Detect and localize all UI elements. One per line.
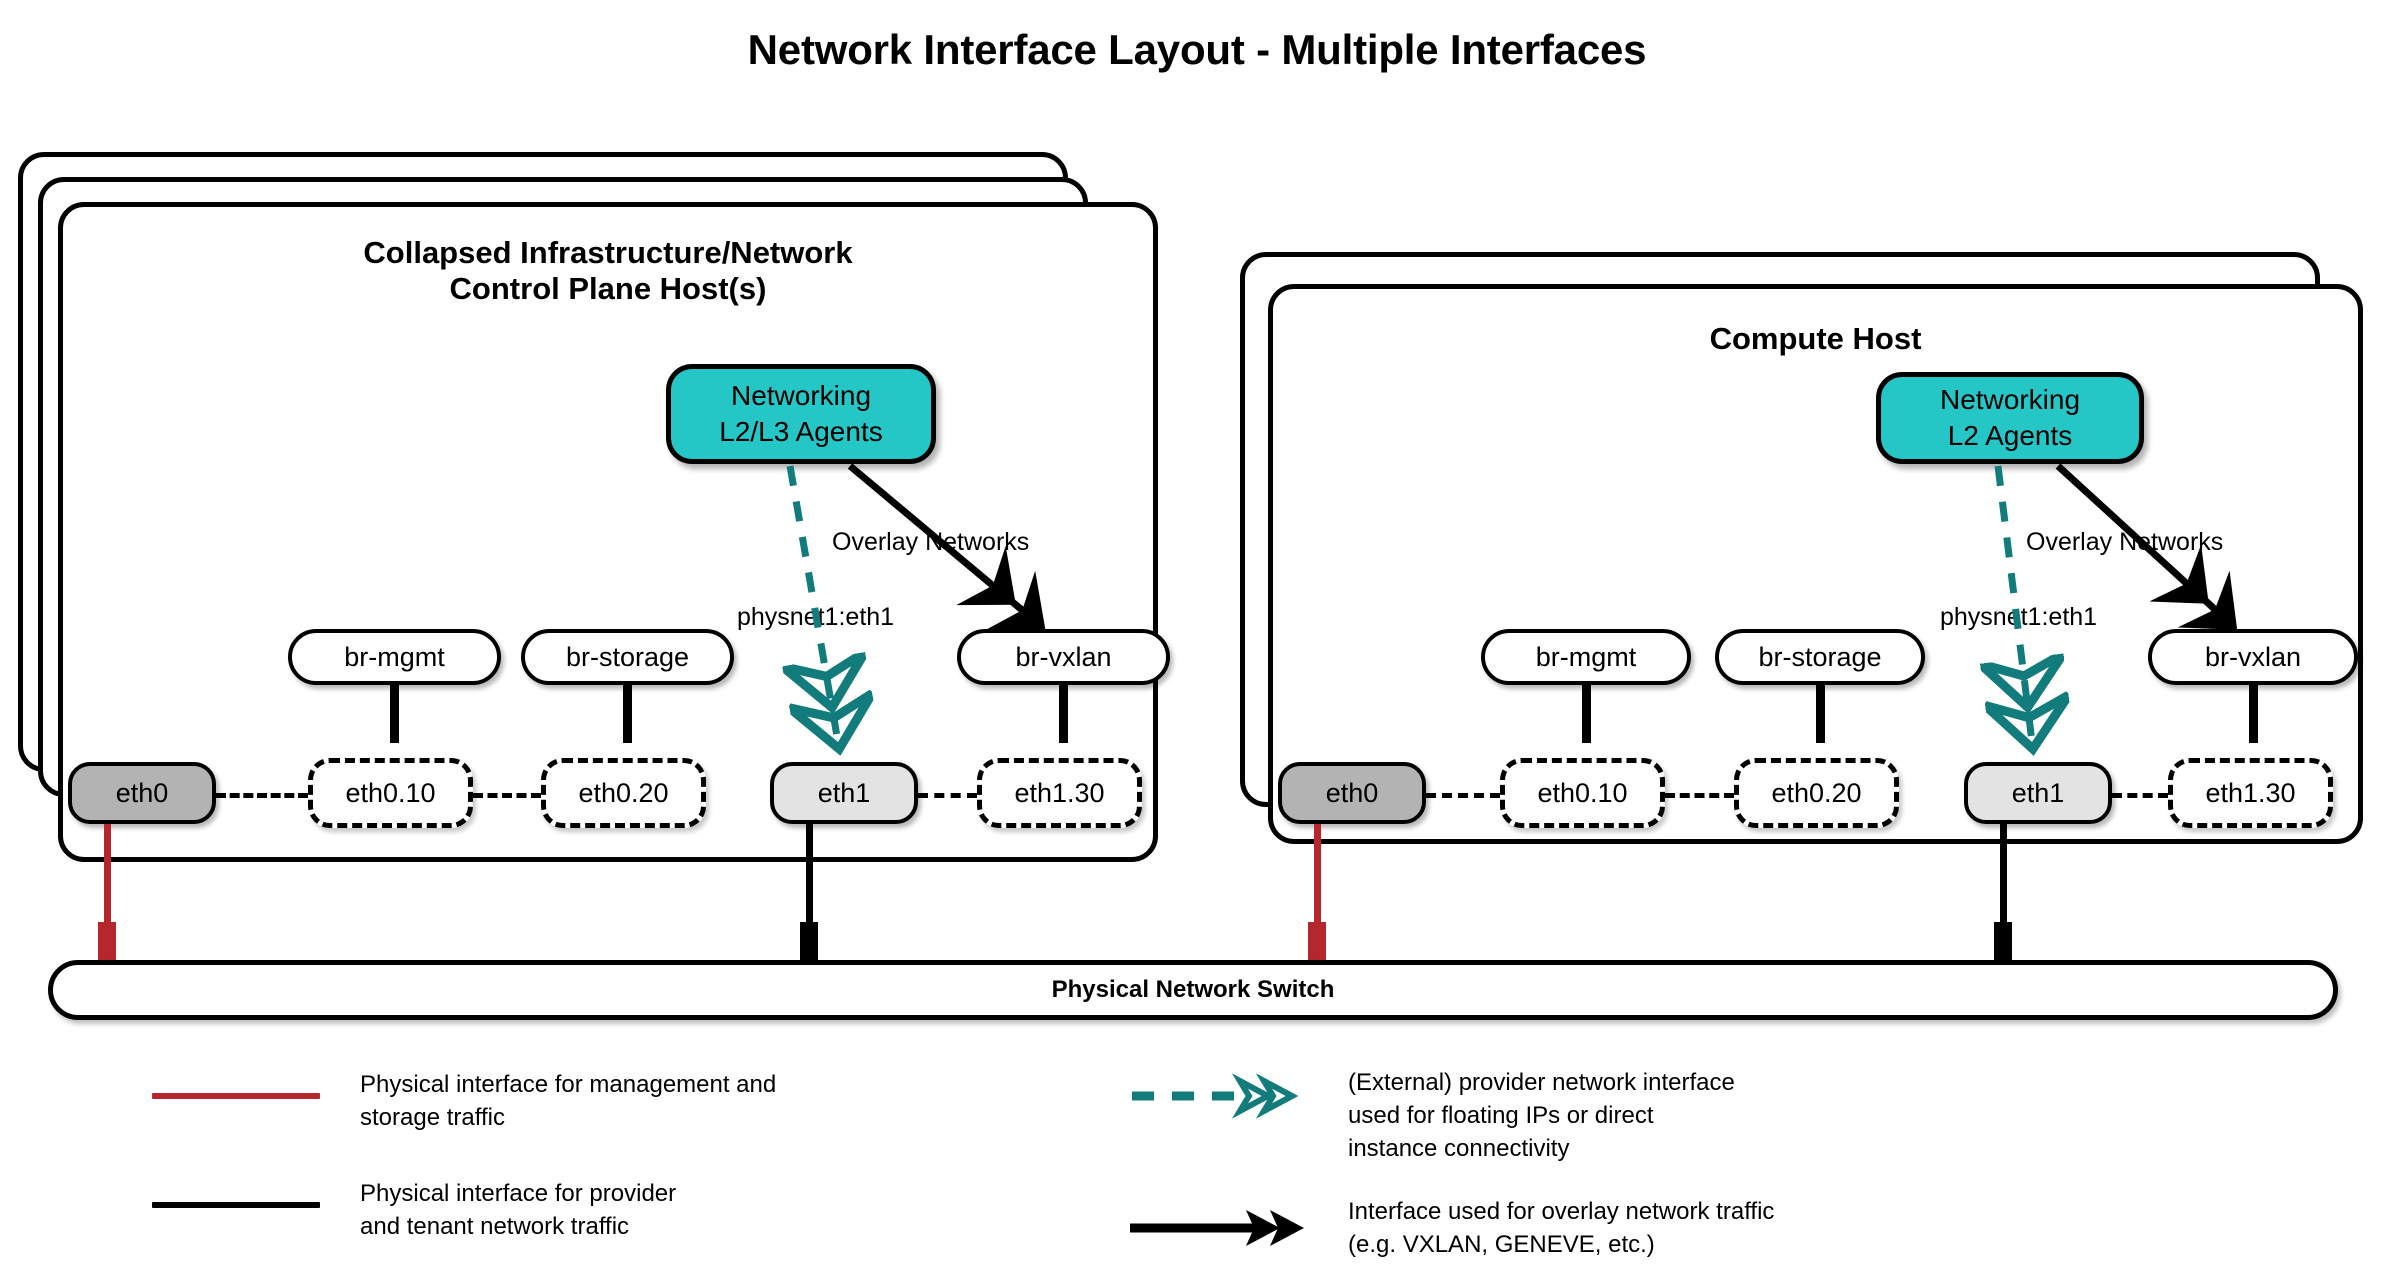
link-br-mgmt-to-eth0-10 [1582,685,1591,743]
compute-networking-agents[interactable]: Networking L2 Agents [1876,372,2144,464]
control-plane-interface-eth0-20[interactable]: eth0.20 [541,758,706,828]
link-br-storage-to-eth0-20 [1816,685,1825,743]
agent-label-line2: L2/L3 Agents [719,414,882,450]
legend-swatch-provider-tenant [152,1202,320,1208]
link-eth1-to-eth1-30 [918,793,977,798]
interface-label: eth1.30 [2205,778,2295,809]
bridge-label: br-vxlan [1015,642,1111,673]
control-plane-provider-edge-label: physnet1:eth1 [737,603,894,632]
link-br-storage-to-eth0-20 [623,685,632,743]
control-plane-host-title: Collapsed Infrastructure/Network Control… [63,235,1153,306]
switch-port-control-eth0 [98,922,116,962]
control-plane-bridge-br-storage[interactable]: br-storage [521,629,734,685]
interface-label: eth1 [2012,778,2065,809]
host-title-line1: Compute Host [1273,321,2358,357]
interface-label: eth0.10 [1537,778,1627,809]
link-eth0-10-to-eth0-20 [473,793,541,798]
interface-label: eth0.20 [578,778,668,809]
control-plane-overlay-edge-label: Overlay Networks [832,528,1029,557]
control-plane-interface-eth1-30[interactable]: eth1.30 [977,758,1142,828]
control-plane-bridge-br-vxlan[interactable]: br-vxlan [957,629,1170,685]
legend-label-mgmt-storage: Physical interface for management and st… [360,1068,880,1134]
bridge-label: br-mgmt [1536,642,1637,673]
legend-swatch-external-provider [1132,1081,1292,1111]
link-eth0-10-to-eth0-20 [1665,793,1734,798]
compute-interface-eth0-20[interactable]: eth0.20 [1734,758,1899,828]
bridge-label: br-storage [566,642,689,673]
switch-port-compute-eth0 [1308,922,1326,962]
interface-label: eth0.20 [1771,778,1861,809]
bridge-label: br-storage [1758,642,1881,673]
control-plane-interface-eth0-10[interactable]: eth0.10 [308,758,473,828]
link-br-mgmt-to-eth0-10 [390,685,399,743]
link-eth0-to-eth0-10 [216,793,308,798]
legend-swatch-mgmt-storage [152,1093,320,1099]
interface-label: eth0.10 [345,778,435,809]
compute-interface-eth1-30[interactable]: eth1.30 [2168,758,2333,828]
compute-bridge-br-vxlan[interactable]: br-vxlan [2148,629,2358,685]
control-plane-interface-eth1[interactable]: eth1 [770,762,918,824]
bridge-label: br-mgmt [344,642,445,673]
switch-port-compute-eth1 [1994,922,2012,962]
interface-label: eth0 [1326,778,1379,809]
compute-interface-eth0[interactable]: eth0 [1278,762,1426,824]
page-title: Network Interface Layout - Multiple Inte… [0,26,2394,74]
control-plane-host-stack: Collapsed Infrastructure/Network Control… [18,152,1208,862]
switch-port-control-eth1 [800,922,818,962]
host-title-line2: Control Plane Host(s) [63,271,1153,307]
link-br-vxlan-to-eth1-30 [1059,685,1068,743]
interface-label: eth1 [818,778,871,809]
switch-label: Physical Network Switch [1052,976,1335,1004]
link-eth0-to-eth0-10 [1426,793,1500,798]
legend-label-overlay-traffic: Interface used for overlay network traff… [1348,1195,1948,1261]
interface-label: eth0 [116,778,169,809]
interface-label: eth1.30 [1014,778,1104,809]
compute-host-title: Compute Host [1273,321,2358,357]
bridge-label: br-vxlan [2205,642,2301,673]
compute-bridge-br-mgmt[interactable]: br-mgmt [1481,629,1691,685]
legend-label-external-provider: (External) provider network interface us… [1348,1066,1908,1165]
diagram-canvas: Network Interface Layout - Multiple Inte… [0,0,2394,1274]
host-title-line1: Collapsed Infrastructure/Network [63,235,1153,271]
link-br-vxlan-to-eth1-30 [2249,685,2258,743]
agent-label-line1: Networking [1940,382,2080,418]
compute-interface-eth0-10[interactable]: eth0.10 [1500,758,1665,828]
link-eth1-to-eth1-30 [2112,793,2168,798]
agent-label-line1: Networking [731,378,871,414]
compute-bridge-br-storage[interactable]: br-storage [1715,629,1925,685]
physical-network-switch[interactable]: Physical Network Switch [48,960,2338,1020]
control-plane-bridge-br-mgmt[interactable]: br-mgmt [288,629,501,685]
compute-interface-eth1[interactable]: eth1 [1964,762,2112,824]
compute-provider-edge-label: physnet1:eth1 [1940,603,2097,632]
agent-label-line2: L2 Agents [1948,418,2073,454]
legend-label-provider-tenant: Physical interface for provider and tena… [360,1177,880,1243]
compute-overlay-edge-label: Overlay Networks [2026,528,2223,557]
control-plane-interface-eth0[interactable]: eth0 [68,762,216,824]
legend-swatch-overlay-traffic [1130,1210,1304,1246]
control-plane-networking-agents[interactable]: Networking L2/L3 Agents [666,364,936,464]
